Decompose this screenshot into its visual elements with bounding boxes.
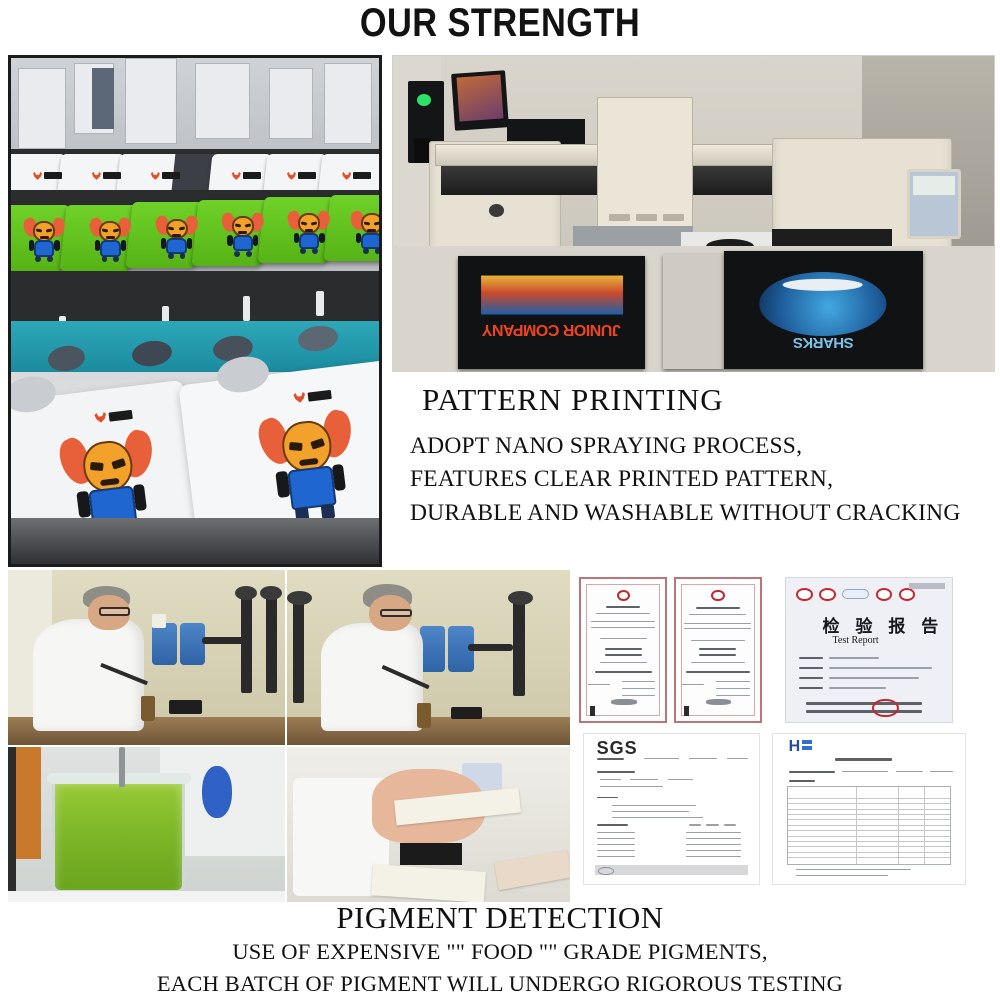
sgs-table-row bbox=[597, 838, 635, 839]
sgs-footer-band bbox=[595, 865, 748, 876]
wall-shadow bbox=[92, 68, 114, 129]
lab-equipment-stand bbox=[513, 595, 524, 697]
certificate-scope bbox=[686, 671, 750, 673]
certificate-text-line bbox=[622, 681, 656, 682]
brand-logo-icon bbox=[151, 172, 180, 180]
sgs-text-line bbox=[668, 779, 692, 780]
shirt-junior-company: JUNIOR COMPANY bbox=[458, 256, 645, 369]
bull-mascot-graphic-large bbox=[262, 408, 356, 528]
sgs-table-row bbox=[686, 856, 742, 857]
sgs-table-row bbox=[597, 844, 635, 845]
pigment-detection-heading: PIGMENT DETECTION bbox=[0, 900, 1000, 936]
equipment-knob bbox=[235, 586, 257, 600]
shirt-text: JUNIOR COMPANY bbox=[458, 320, 645, 338]
certificate-logo-icon bbox=[684, 706, 689, 716]
mark-ccc-icon bbox=[876, 588, 893, 601]
report-field-label bbox=[799, 677, 822, 679]
bull-mascot-graphic bbox=[224, 212, 261, 258]
report-number bbox=[909, 583, 946, 589]
photo-certificates: 检 验 报 告 Test Report SGS bbox=[575, 570, 995, 902]
h-logo-icon bbox=[802, 746, 812, 751]
certificate-sgs-report: SGS bbox=[583, 733, 759, 886]
sgs-stamp-icon bbox=[598, 867, 614, 875]
table-row-divider bbox=[788, 852, 950, 853]
safety-glasses bbox=[99, 607, 129, 616]
certificate-text-line bbox=[716, 695, 750, 696]
table-row-divider bbox=[788, 841, 950, 842]
sgs-title-line bbox=[597, 758, 625, 760]
shirt-sharks: SHARKS bbox=[724, 251, 923, 369]
report-field-value bbox=[829, 687, 885, 689]
lab-equipment-stand bbox=[266, 588, 277, 693]
photo-pigment-beaker bbox=[8, 747, 285, 902]
h-report-meta bbox=[896, 771, 923, 772]
brand-logo-icon bbox=[342, 172, 371, 180]
shirt-artwork bbox=[481, 276, 623, 315]
pigment-detection-text-block: PIGMENT DETECTION USE OF EXPENSIVE "" FO… bbox=[0, 900, 1000, 999]
h-logo-text: H bbox=[789, 738, 801, 756]
h-report-meta bbox=[930, 771, 953, 772]
pigment-detection-line: EACH BATCH OF PIGMENT WILL UNDERGO RIGOR… bbox=[0, 968, 1000, 1000]
sgs-table-row bbox=[597, 832, 635, 833]
sgs-text-line bbox=[612, 811, 689, 812]
certificate-text-line bbox=[716, 681, 750, 682]
sgs-section-header bbox=[597, 797, 618, 799]
mark-cqc-icon bbox=[796, 588, 813, 601]
bottom-photo-row: 检 验 报 告 Test Report SGS bbox=[0, 570, 1000, 905]
cabinet-knob bbox=[489, 204, 504, 217]
wall-panel bbox=[125, 58, 177, 144]
h-report-section bbox=[789, 780, 816, 782]
shirt-text: SHARKS bbox=[724, 334, 923, 351]
certificate-standard bbox=[605, 648, 642, 650]
certificate-scope bbox=[595, 671, 652, 673]
sgs-table-row bbox=[686, 850, 742, 851]
dark-surface bbox=[400, 843, 462, 865]
report-title-en: Test Report bbox=[832, 635, 878, 646]
sgs-table-row bbox=[597, 850, 635, 851]
sgs-meta-line bbox=[644, 758, 679, 759]
table-row-divider bbox=[788, 814, 950, 815]
sgs-meta-line bbox=[689, 758, 717, 759]
h-logo-icon bbox=[802, 740, 812, 745]
sgs-text-line bbox=[612, 805, 696, 806]
bench-device bbox=[451, 707, 482, 719]
certificate-signature bbox=[706, 699, 731, 705]
brand-logo-icon bbox=[287, 172, 316, 180]
wall-panel bbox=[18, 68, 66, 149]
sgs-section-header bbox=[597, 771, 635, 773]
h-report-footnote bbox=[796, 875, 888, 876]
mark-ccc-icon bbox=[899, 588, 916, 601]
h-report-title bbox=[835, 758, 892, 761]
background-blue-object bbox=[202, 766, 232, 819]
bull-mascot-graphic bbox=[158, 215, 195, 261]
certificate-text-line bbox=[689, 614, 746, 615]
mixer-motor-blue bbox=[152, 623, 177, 665]
certificate-iso-right bbox=[674, 577, 762, 723]
sgs-text-line bbox=[600, 779, 621, 780]
report-field-label bbox=[799, 657, 822, 659]
photo-lab-technician-1 bbox=[8, 570, 285, 745]
pattern-printing-line: ADOPT NANO SPRAYING PROCESS, bbox=[392, 430, 998, 463]
sample-bottle bbox=[141, 696, 155, 721]
carriage-vent bbox=[609, 214, 629, 222]
lab-glassware bbox=[152, 614, 166, 628]
bull-mascot-graphic bbox=[92, 217, 129, 263]
sgs-table-header bbox=[706, 824, 718, 826]
sgs-table-row bbox=[597, 856, 635, 857]
h-report-meta bbox=[789, 771, 835, 773]
h-report-meta bbox=[842, 771, 888, 772]
equipment-knob bbox=[508, 591, 533, 605]
table-row-divider bbox=[788, 846, 950, 847]
certificate-text-line bbox=[622, 688, 656, 689]
table-row-divider bbox=[788, 803, 950, 804]
equipment-arm bbox=[202, 637, 252, 644]
sgs-table-header bbox=[597, 824, 628, 826]
bull-mascot-graphic bbox=[26, 217, 63, 263]
glass-beaker bbox=[52, 778, 185, 893]
sgs-table-header bbox=[724, 824, 736, 826]
pattern-printing-text-block: PATTERN PRINTING ADOPT NANO SPRAYING PRO… bbox=[392, 382, 998, 530]
sgs-meta-line bbox=[727, 758, 748, 759]
certificate-text-line bbox=[716, 688, 750, 689]
certificate-standard bbox=[699, 654, 736, 656]
sgs-table-row bbox=[686, 844, 742, 845]
certificate-iso-left bbox=[579, 577, 667, 723]
h-report-footnote bbox=[796, 869, 911, 870]
certificate-text-line bbox=[591, 627, 655, 628]
report-field-value bbox=[829, 677, 919, 679]
pallet-clamp bbox=[243, 296, 250, 321]
mark-s-icon bbox=[842, 589, 869, 599]
background-orange-panel bbox=[14, 747, 42, 859]
certificate-title-cn bbox=[606, 606, 640, 608]
table-row-divider bbox=[788, 830, 950, 831]
certificate-text-line bbox=[691, 640, 745, 641]
certificate-seal-icon bbox=[711, 590, 724, 601]
table-row-divider bbox=[788, 836, 950, 837]
screen-printing-scene bbox=[11, 58, 379, 564]
sgs-text-line bbox=[630, 779, 658, 780]
sgs-text-line bbox=[600, 786, 663, 787]
sgs-table-row bbox=[686, 832, 742, 833]
wall-panel bbox=[195, 63, 250, 139]
photo-swatch-inspection bbox=[287, 747, 570, 902]
mark-ccc-icon bbox=[819, 588, 836, 601]
background-dark-edge bbox=[8, 747, 16, 902]
bull-mascot-graphic bbox=[353, 210, 382, 256]
certificate-text-line bbox=[596, 613, 650, 614]
mixer-motor-blue bbox=[180, 623, 205, 665]
lab-equipment-stand bbox=[293, 595, 304, 704]
report-field-label bbox=[799, 687, 822, 689]
h-report-table bbox=[787, 786, 951, 864]
table-row-divider bbox=[788, 819, 950, 820]
report-issuer-line bbox=[806, 702, 922, 705]
report-official-stamp-icon bbox=[872, 699, 899, 718]
certificate-title-en bbox=[696, 607, 740, 609]
pattern-printing-heading: PATTERN PRINTING bbox=[392, 382, 998, 418]
certificate-standard bbox=[699, 648, 736, 650]
carriage-vent bbox=[636, 214, 656, 222]
brand-logo-icon bbox=[92, 172, 121, 180]
page-header: OUR STRENGTH bbox=[0, 0, 1000, 46]
stirring-rod bbox=[119, 747, 126, 787]
brand-logo-icon bbox=[33, 172, 62, 180]
pattern-printing-line: FEATURES CLEAR PRINTED PATTERN, bbox=[392, 463, 998, 496]
report-field-value bbox=[829, 667, 932, 669]
wall-panel bbox=[269, 68, 313, 139]
floor-strip bbox=[11, 518, 379, 564]
table-row-divider bbox=[788, 825, 950, 826]
safety-glasses bbox=[380, 609, 411, 618]
report-issuer-line bbox=[806, 710, 922, 713]
top-photo-row: JUNIOR COMPANY SHARKS PATTERN PRINTING A… bbox=[0, 46, 1000, 570]
bench-device bbox=[169, 700, 202, 714]
sgs-table-row bbox=[686, 838, 742, 839]
table-row-divider bbox=[788, 809, 950, 810]
page-title: OUR STRENGTH bbox=[360, 1, 640, 46]
equipment-knob bbox=[260, 586, 282, 600]
photo-screen-printing bbox=[8, 55, 382, 567]
table-row-divider bbox=[788, 857, 950, 858]
sgs-logo-text: SGS bbox=[597, 738, 638, 759]
display-readout bbox=[913, 176, 955, 195]
shirt-gap-divider bbox=[663, 254, 723, 370]
photo-printed-shirts: JUNIOR COMPANY SHARKS bbox=[392, 246, 995, 372]
certificate-logo-icon bbox=[590, 706, 595, 716]
sgs-text-line bbox=[612, 817, 703, 818]
certificate-h-report: H bbox=[772, 733, 965, 886]
mixer-motor-blue bbox=[420, 626, 445, 672]
pigment-detection-line: USE OF EXPENSIVE "" FOOD "" GRADE PIGMEN… bbox=[0, 936, 1000, 968]
certificate-text-line bbox=[682, 684, 704, 685]
certificate-text-line bbox=[684, 623, 751, 624]
certificate-signature bbox=[611, 699, 636, 705]
brand-logo-icon bbox=[232, 172, 261, 180]
certificate-standard bbox=[605, 654, 642, 656]
certificate-text-line bbox=[622, 695, 656, 696]
pattern-printing-line: DURABLE AND WASHABLE WITHOUT CRACKING bbox=[392, 497, 998, 530]
monitor-screen bbox=[456, 75, 503, 122]
report-field-value bbox=[829, 657, 879, 659]
sample-bottle bbox=[417, 703, 431, 728]
bull-mascot-graphic bbox=[291, 210, 328, 256]
photo-lab-technician-2 bbox=[287, 570, 570, 745]
report-field-label bbox=[799, 667, 822, 669]
sgs-table-header bbox=[689, 824, 701, 826]
certificate-text-line bbox=[588, 684, 610, 685]
table-header-divider bbox=[788, 798, 950, 799]
wall-panel bbox=[324, 63, 372, 144]
report-title-cn: 检 验 报 告 bbox=[823, 612, 944, 637]
equipment-arm bbox=[468, 644, 513, 651]
certificate-test-report: 检 验 报 告 Test Report bbox=[785, 577, 953, 723]
carriage-vent bbox=[663, 214, 683, 222]
pallet-clamp bbox=[316, 291, 323, 316]
